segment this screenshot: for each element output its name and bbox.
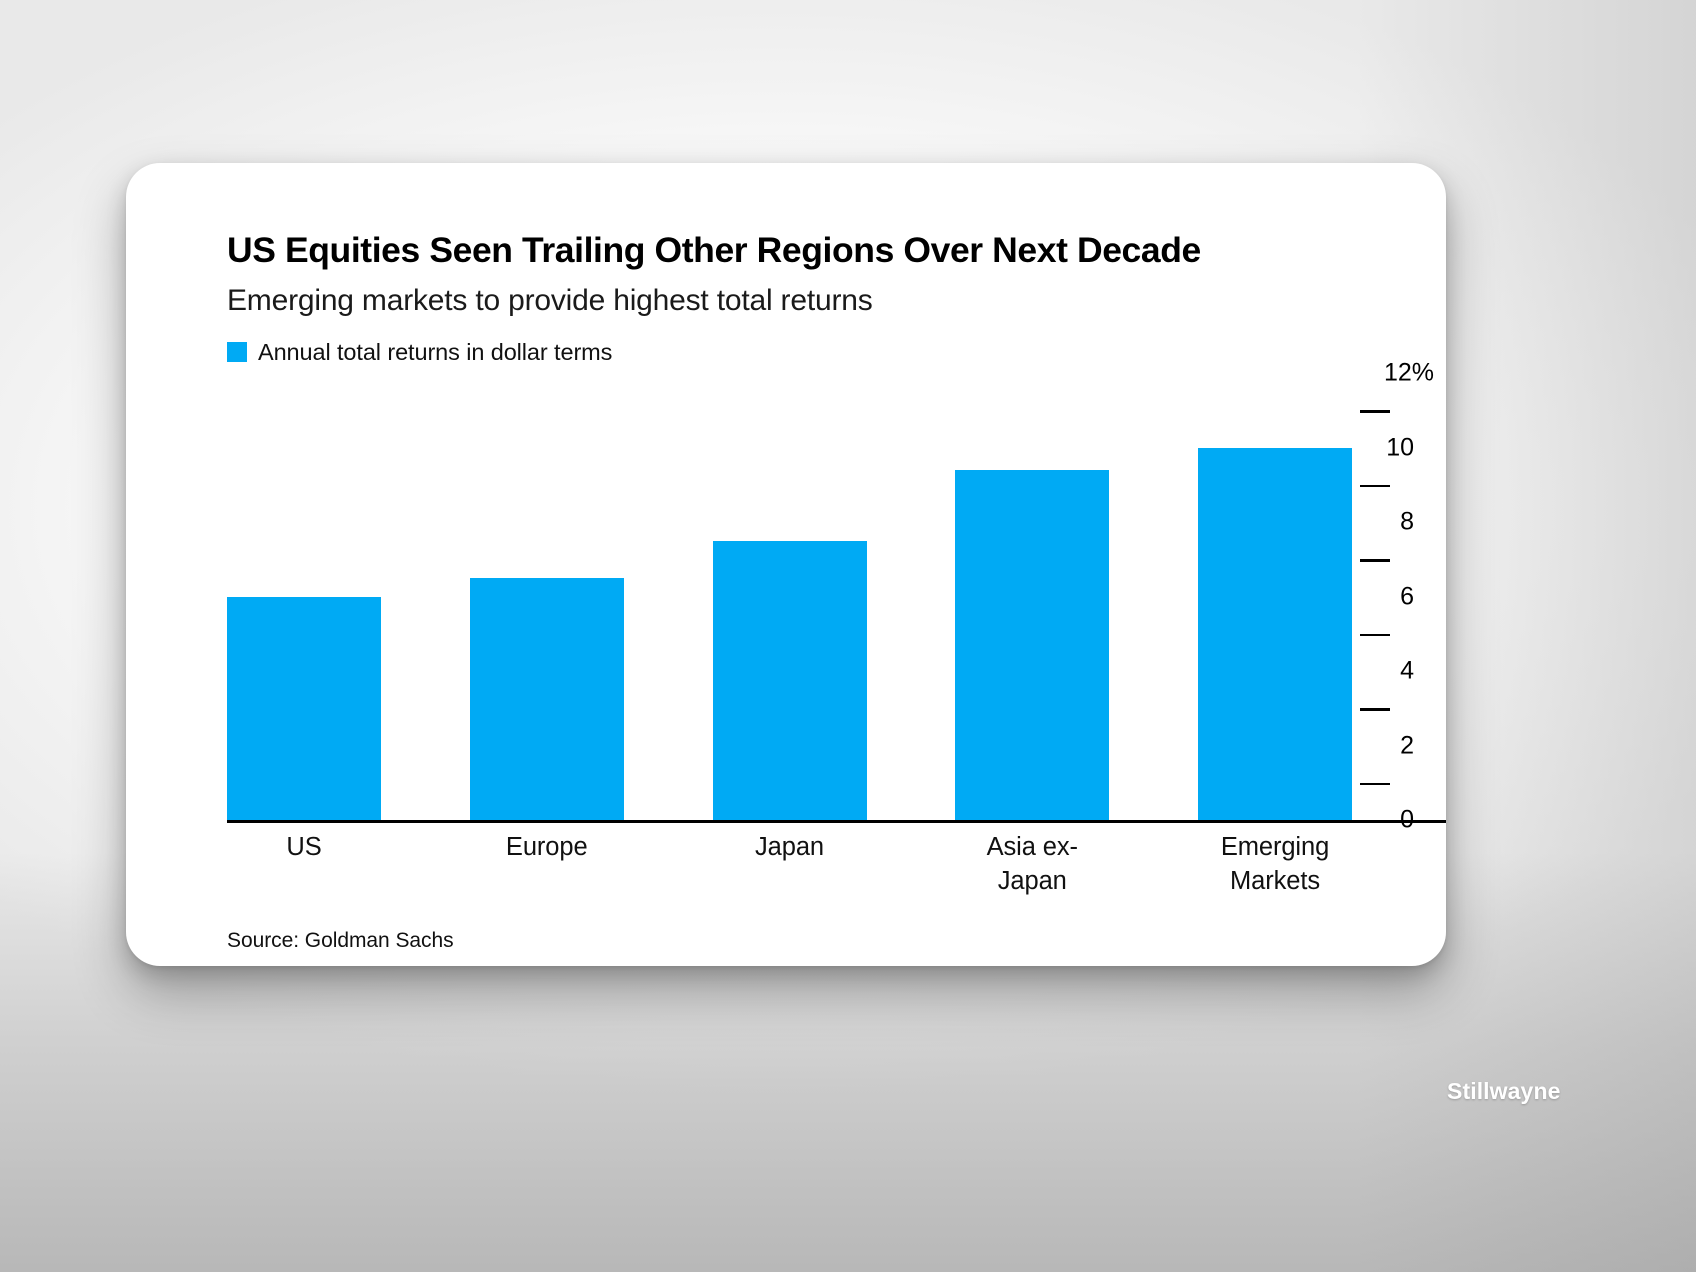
- x-axis-label-asia-ex-japan: Asia ex-Japan: [955, 831, 1109, 898]
- y-axis-tick-label: 12%: [1384, 361, 1434, 386]
- x-axis-baseline: [227, 820, 1446, 823]
- plot-area: [227, 373, 1352, 820]
- bar-europe: [470, 578, 624, 820]
- x-axis-label-line: Asia ex-Japan: [955, 831, 1109, 898]
- y-axis-tick-label: 4: [1400, 659, 1414, 684]
- legend-item-label: Annual total returns in dollar terms: [258, 339, 612, 366]
- x-axis-label-line: US: [227, 831, 381, 865]
- y-axis-tick-mark: [1360, 485, 1390, 488]
- chart-card: US Equities Seen Trailing Other Regions …: [126, 163, 1446, 966]
- bar-slot: [955, 373, 1109, 820]
- y-axis-tick-label: 6: [1400, 584, 1414, 609]
- x-axis-label-us: US: [227, 831, 381, 898]
- y-axis: 024681012%: [1356, 359, 1446, 829]
- y-axis-tick-mark: [1360, 783, 1390, 786]
- chart-header: US Equities Seen Trailing Other Regions …: [227, 231, 1406, 366]
- x-axis-label-europe: Europe: [470, 831, 624, 898]
- y-axis-tick-label: 2: [1400, 733, 1414, 758]
- bar-us: [227, 597, 381, 821]
- x-axis-label-line: Markets: [1198, 865, 1352, 899]
- bar-japan: [713, 541, 867, 820]
- y-axis-tick-label: 10: [1386, 435, 1414, 460]
- y-axis-tick-mark: [1360, 708, 1390, 711]
- y-axis-tick-label: 8: [1400, 510, 1414, 535]
- bar-group: [227, 373, 1352, 820]
- y-axis-tick-label: 0: [1400, 808, 1414, 833]
- x-axis-label-line: Emerging: [1198, 831, 1352, 865]
- bar-asia-ex-japan: [955, 470, 1109, 820]
- bar-slot: [227, 373, 381, 820]
- x-axis-labels: USEuropeJapanAsia ex-JapanEmergingMarket…: [227, 831, 1352, 898]
- chart-subtitle: Emerging markets to provide highest tota…: [227, 284, 1406, 319]
- bar-slot: [713, 373, 867, 820]
- bar-slot: [470, 373, 624, 820]
- y-axis-tick-mark: [1360, 559, 1390, 562]
- x-axis-label-line: Europe: [470, 831, 624, 865]
- y-axis-tick-mark: [1360, 634, 1390, 637]
- source-note: Source: Goldman Sachs: [227, 929, 454, 953]
- x-axis-label-emerging-markets: EmergingMarkets: [1198, 831, 1352, 898]
- y-axis-tick-mark: [1360, 410, 1390, 413]
- bar-emerging-markets: [1198, 448, 1352, 821]
- bar-slot: [1198, 373, 1352, 820]
- x-axis-label-japan: Japan: [713, 831, 867, 898]
- x-axis-label-line: Japan: [713, 831, 867, 865]
- chart-title: US Equities Seen Trailing Other Regions …: [227, 231, 1406, 270]
- watermark: Stillwayne: [1447, 1078, 1560, 1105]
- chart-legend: Annual total returns in dollar terms: [227, 339, 1406, 366]
- square-swatch-icon: [227, 342, 247, 362]
